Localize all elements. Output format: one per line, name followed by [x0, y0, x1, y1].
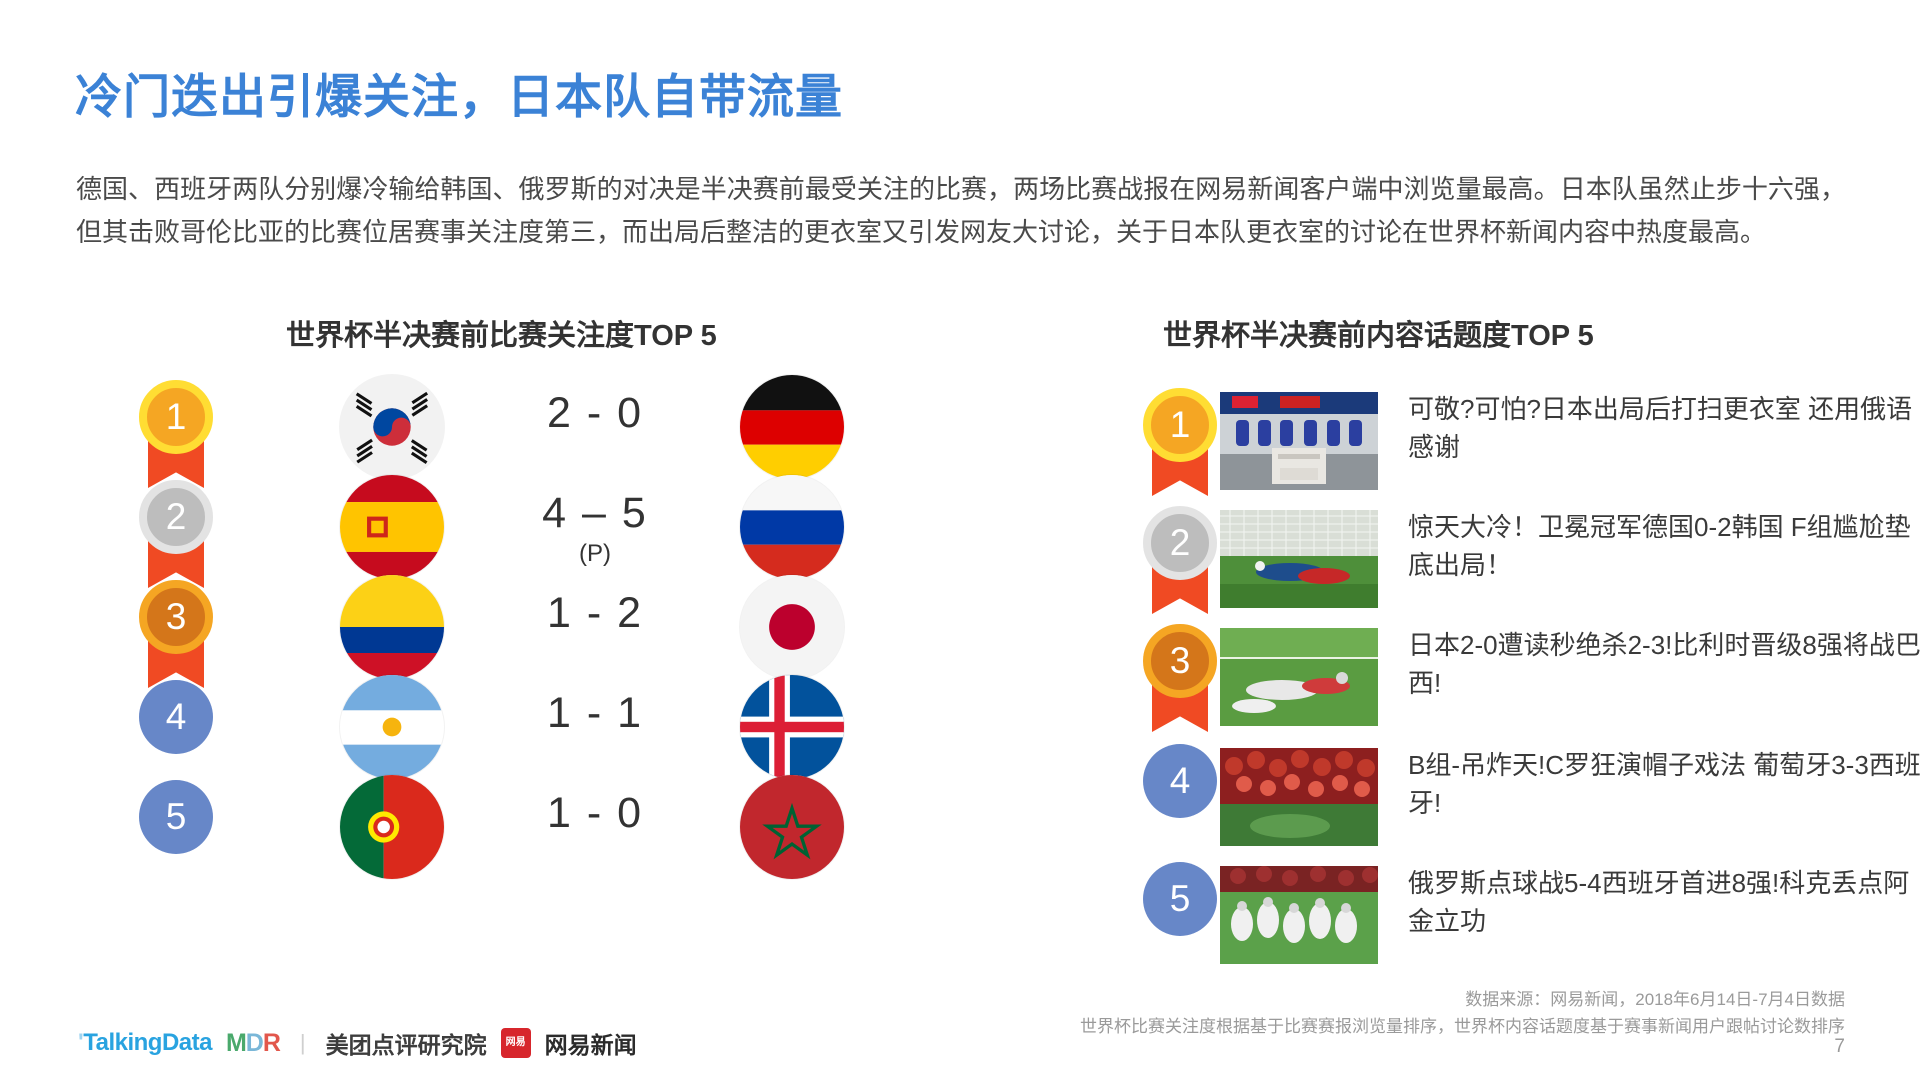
news-headline[interactable]: B组-吊炸天!C罗狂演帽子戏法 葡萄牙3-3西班牙! [1408, 746, 1921, 822]
meituan-research-logo: 美团点评研究院 [326, 1026, 487, 1060]
score-note: (P) [450, 540, 740, 568]
netease-badge-icon: 网易 [501, 1028, 531, 1058]
page-title: 冷门迭出引爆关注，日本队自带流量 [75, 58, 843, 127]
news-headline[interactable]: 日本2-0遭读秒绝杀2-3!比利时晋级8强将战巴西! [1408, 626, 1921, 702]
news-thumbnail[interactable] [1220, 748, 1378, 846]
news-row[interactable]: B组-吊炸天!C罗狂演帽子戏法 葡萄牙3-3西班牙! [1130, 748, 1921, 864]
flag-portugal [340, 775, 444, 879]
flag-japan [740, 575, 844, 679]
flag-south-korea [340, 375, 444, 479]
footer-logos: 'TalkingData MDR | 美团点评研究院 网易 网易新闻 [78, 1026, 637, 1060]
section-title-matches: 世界杯半决赛前比赛关注度TOP 5 [286, 312, 717, 354]
rank-number: 4 [1143, 744, 1217, 818]
source-line-1: 数据来源：网易新闻，2018年6月14日-7月4日数据 [1080, 986, 1845, 1013]
flag-argentina [340, 675, 444, 779]
flag-germany [740, 375, 844, 479]
news-headline[interactable]: 惊天大冷！卫冕冠军德国0-2韩国 F组尴尬垫底出局！ [1408, 508, 1921, 584]
news-thumbnail[interactable] [1220, 510, 1378, 608]
news-row[interactable]: 日本2-0遭读秒绝杀2-3!比利时晋级8强将战巴西! [1130, 628, 1921, 744]
match-score: 2 - 0 [450, 389, 740, 438]
rank-number: 2 [1143, 506, 1217, 580]
news-thumbnail[interactable] [1220, 866, 1378, 964]
news-headline[interactable]: 俄罗斯点球战5-4西班牙首进8强!科克丢点阿金立功 [1408, 864, 1921, 940]
data-source-note: 数据来源：网易新闻，2018年6月14日-7月4日数据 世界杯比赛关注度根据基于… [1080, 986, 1845, 1040]
flag-spain [340, 475, 444, 579]
news-thumbnail[interactable] [1220, 392, 1378, 490]
flag-morocco [740, 775, 844, 879]
rank-number: 1 [1143, 388, 1217, 462]
match-score: 1 - 1 [450, 689, 740, 738]
rank-number: 5 [1143, 862, 1217, 936]
section-title-news: 世界杯半决赛前内容话题度TOP 5 [1163, 312, 1594, 354]
logo-divider: | [300, 1030, 306, 1056]
rank-number: 2 [139, 480, 213, 554]
mdr-logo: MDR [226, 1029, 280, 1058]
lede-paragraph: 德国、西班牙两队分别爆冷输给韩国、俄罗斯的对决是半决赛前最受关注的比赛，两场比赛… [76, 168, 1846, 254]
rank-number: 3 [1143, 624, 1217, 698]
talkingdata-logo: 'TalkingData [78, 1029, 212, 1057]
rank-number: 3 [139, 580, 213, 654]
netease-news-logo: 网易新闻 [545, 1026, 637, 1060]
rank-number: 5 [139, 780, 213, 854]
match-row: 1 - 0 [120, 775, 860, 895]
slide-root: 冷门迭出引爆关注，日本队自带流量 德国、西班牙两队分别爆冷输给韩国、俄罗斯的对决… [0, 0, 1921, 1080]
source-line-2: 世界杯比赛关注度根据基于比赛赛报浏览量排序，世界杯内容话题度基于赛事新闻用户跟帖… [1080, 1013, 1845, 1040]
rank-number: 1 [139, 380, 213, 454]
news-row[interactable]: 惊天大冷！卫冕冠军德国0-2韩国 F组尴尬垫底出局！ [1130, 510, 1921, 626]
flag-colombia [340, 575, 444, 679]
news-row[interactable]: 可敬?可怕?日本出局后打扫更衣室 还用俄语感谢 [1130, 392, 1921, 508]
news-row[interactable]: 俄罗斯点球战5-4西班牙首进8强!科克丢点阿金立功 [1130, 866, 1921, 982]
match-score: 1 - 2 [450, 589, 740, 638]
flag-russia [740, 475, 844, 579]
news-thumbnail[interactable] [1220, 628, 1378, 726]
news-headline[interactable]: 可敬?可怕?日本出局后打扫更衣室 还用俄语感谢 [1408, 390, 1921, 466]
page-number: 7 [1834, 1036, 1845, 1058]
match-score: 4 – 5(P) [450, 489, 740, 568]
rank-number: 4 [139, 680, 213, 754]
flag-iceland [740, 675, 844, 779]
match-score: 1 - 0 [450, 789, 740, 838]
